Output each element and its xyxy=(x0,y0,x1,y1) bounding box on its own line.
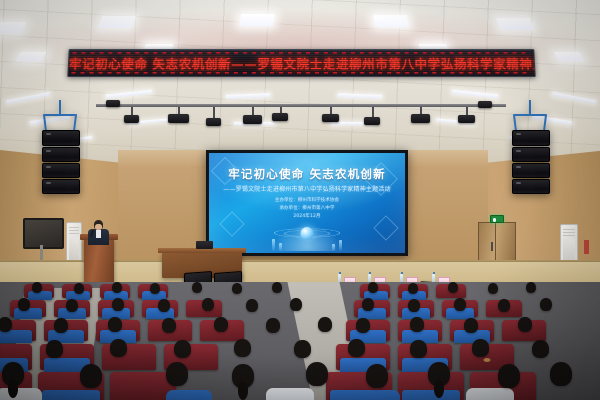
stage-light xyxy=(458,115,475,123)
screen-decor-hex xyxy=(373,215,398,240)
screen-data-bar xyxy=(272,239,275,251)
speaker-cabinet xyxy=(42,163,80,178)
speaker-cabinet xyxy=(512,147,550,162)
ceiling-panel-light xyxy=(239,14,275,26)
speaker-podium xyxy=(84,238,114,286)
screen-subtitle: ——罗锡文院士走进柳州市第八中学弘扬科学家精神主题活动 xyxy=(209,184,405,193)
ceiling-panel-light xyxy=(373,15,409,27)
laptop-on-table xyxy=(196,241,213,249)
screen-date: 2024年12月 xyxy=(209,213,405,219)
screen-organizer-line-2: 承办单位：柳州市第八中学 xyxy=(209,205,405,211)
screen-title: 牢记初心使命 矢志农机创新 xyxy=(209,166,405,182)
ceiling-panel-light xyxy=(553,52,584,61)
auditorium-photo: 牢记初心使命 矢志农机创新——罗锡文院士走进柳州市第八中学弘扬科学家精神主题活动 xyxy=(0,0,600,400)
door-handle[interactable] xyxy=(491,242,493,251)
stage-light xyxy=(411,114,430,123)
speaker-cabinet xyxy=(42,130,80,146)
screen-data-bar xyxy=(339,240,342,251)
screen-organizer-line-1: 主办单位：柳州市科学技术协会 xyxy=(209,197,405,203)
ceiling-panel-light xyxy=(98,16,136,28)
speaker-rigging xyxy=(45,114,75,116)
exit-sign-icon xyxy=(490,215,504,223)
line-array-speaker-left xyxy=(38,100,84,184)
speaker-cabinet-group xyxy=(512,130,550,195)
led-banner: 牢记初心使命 矢志农机创新——罗锡文院士走进柳州市第八中学弘扬科学家精神主题活动 xyxy=(67,49,536,77)
screen-data-bar xyxy=(332,244,335,251)
stage-tv-monitor xyxy=(23,218,64,249)
line-array-speaker-right xyxy=(508,100,554,184)
ac-vent xyxy=(69,227,79,234)
stage-light xyxy=(243,115,262,124)
ac-vent xyxy=(563,229,575,236)
audience-seating-area xyxy=(0,282,600,400)
speaker-cabinet xyxy=(512,163,550,178)
stage-light xyxy=(322,114,339,122)
stage-light xyxy=(206,118,221,126)
lighting-truss xyxy=(96,104,506,107)
screen-data-bar xyxy=(279,243,282,251)
audience-vignette xyxy=(0,282,600,400)
main-led-screen: 牢记初心使命 矢志农机创新 ——罗锡文院士走进柳州市第八中学弘扬科学家精神主题活… xyxy=(206,150,408,256)
stage-light xyxy=(124,115,139,123)
stage-light xyxy=(168,114,189,123)
led-banner-text: 牢记初心使命 矢志农机创新——罗锡文院士走进柳州市第八中学弘扬科学家精神主题活动 xyxy=(68,54,534,73)
speaker-cabinet xyxy=(512,179,550,194)
fire-equipment-sign xyxy=(584,240,589,254)
screen-globe xyxy=(301,227,314,240)
speaker-cabinet xyxy=(42,147,80,162)
speaker-cabinet xyxy=(42,179,80,194)
stage-light xyxy=(106,100,120,107)
presenter-face xyxy=(95,224,102,230)
stage-light xyxy=(478,101,492,108)
speaker-rigging xyxy=(515,114,545,116)
ceiling-panel-light xyxy=(496,18,534,30)
speaker-cabinet-group xyxy=(42,130,80,195)
presenter-shirt xyxy=(96,230,101,238)
stage-light xyxy=(364,117,380,125)
speaker-cabinet xyxy=(512,130,550,146)
ceiling-panel-light xyxy=(15,52,46,61)
stage-light xyxy=(272,113,288,121)
screen-graphic-artwork xyxy=(268,221,346,251)
